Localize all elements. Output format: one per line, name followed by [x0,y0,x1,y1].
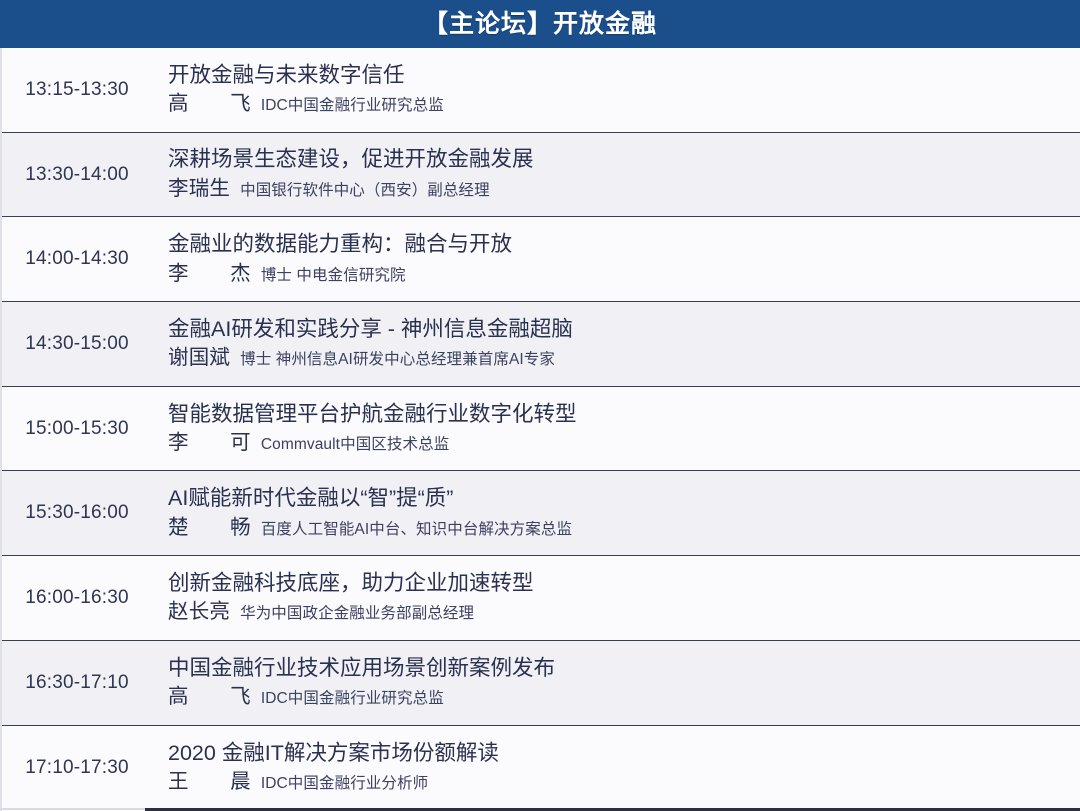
agenda-row[interactable]: 16:30-17:10 中国金融行业技术应用场景创新案例发布 高 飞 IDC中国… [0,641,1080,726]
speaker-line: 王 晨 IDC中国金融行业分析师 [168,769,1068,796]
session-time: 13:30-14:00 [25,164,129,186]
session-time: 16:30-17:10 [25,672,129,694]
speaker-name: 高 飞 [168,91,251,118]
agenda-row-time-cell: 14:00-14:30 [0,217,150,301]
speaker-line: 谢国斌 博士 神州信息AI研发中心总经理兼首席AI专家 [168,345,1068,372]
agenda-row-time-cell: 14:30-15:00 [0,302,150,386]
agenda-row-time-cell: 13:15-13:30 [0,48,150,132]
agenda-row-content-cell: 中国金融行业技术应用场景创新案例发布 高 飞 IDC中国金融行业研究总监 [150,641,1080,725]
agenda-row-time-cell: 15:00-15:30 [0,387,150,471]
speaker-affiliation: Commvault中国区技术总监 [261,435,449,455]
session-title: 中国金融行业技术应用场景创新案例发布 [168,655,1068,683]
agenda-row-content-cell: 开放金融与未来数字信任 高 飞 IDC中国金融行业研究总监 [150,48,1080,132]
session-title: 深耕场景生态建设，促进开放金融发展 [168,146,1068,174]
session-title: 金融AI研发和实践分享 - 神州信息金融超脑 [168,316,1068,344]
speaker-name: 谢国斌 [168,345,230,372]
agenda-row-time-cell: 16:00-16:30 [0,556,150,640]
agenda-row-content-cell: 金融AI研发和实践分享 - 神州信息金融超脑 谢国斌 博士 神州信息AI研发中心… [150,302,1080,386]
session-time: 14:30-15:00 [25,333,129,355]
agenda-row[interactable]: 16:00-16:30 创新金融科技底座，助力企业加速转型 赵长亮 华为中国政企… [0,556,1080,641]
agenda-row-time-cell: 15:30-16:00 [0,471,150,555]
speaker-affiliation: IDC中国金融行业研究总监 [261,96,444,116]
speaker-line: 李瑞生 中国银行软件中心（西安）副总经理 [168,176,1068,203]
session-title: 智能数据管理平台护航金融行业数字化转型 [168,401,1068,429]
speaker-affiliation: IDC中国金融行业研究总监 [261,689,444,709]
session-title: 开放金融与未来数字信任 [168,62,1068,90]
speaker-affiliation: IDC中国金融行业分析师 [261,774,428,794]
speaker-line: 高 飞 IDC中国金融行业研究总监 [168,684,1068,711]
agenda-row-time-cell: 13:30-14:00 [0,133,150,217]
speaker-name: 李瑞生 [168,176,230,203]
session-time: 17:10-17:30 [25,757,129,779]
speaker-name: 楚 畅 [168,515,251,542]
agenda-row[interactable]: 13:30-14:00 深耕场景生态建设，促进开放金融发展 李瑞生 中国银行软件… [0,133,1080,218]
speaker-line: 高 飞 IDC中国金融行业研究总监 [168,91,1068,118]
session-time: 15:00-15:30 [25,418,129,440]
speaker-line: 赵长亮 华为中国政企金融业务部副总经理 [168,599,1068,626]
speaker-affiliation: 博士 神州信息AI研发中心总经理兼首席AI专家 [240,350,555,370]
page-title: 【主论坛】开放金融 [423,12,657,37]
session-title: 创新金融科技底座，助力企业加速转型 [168,570,1068,598]
agenda-page: 【主论坛】开放金融 13:15-13:30 开放金融与未来数字信任 高 飞 ID… [0,0,1080,811]
speaker-affiliation: 中国银行软件中心（西安）副总经理 [240,181,490,201]
agenda-table: 13:15-13:30 开放金融与未来数字信任 高 飞 IDC中国金融行业研究总… [0,48,1080,810]
speaker-name: 王 晨 [168,769,251,796]
agenda-row-content-cell: AI赋能新时代金融以“智”提“质” 楚 畅 百度人工智能AI中台、知识中台解决方… [150,471,1080,555]
session-time: 16:00-16:30 [25,587,129,609]
agenda-row[interactable]: 15:00-15:30 智能数据管理平台护航金融行业数字化转型 李 可 Comm… [0,387,1080,472]
speaker-affiliation: 百度人工智能AI中台、知识中台解决方案总监 [261,520,572,540]
agenda-row[interactable]: 17:10-17:30 2020 金融IT解决方案市场份额解读 王 晨 IDC中… [0,726,1080,811]
session-title: 金融业的数据能力重构：融合与开放 [168,231,1068,259]
speaker-name: 高 飞 [168,684,251,711]
speaker-name: 李 杰 [168,261,251,288]
bottom-rule-light-segment [0,808,145,810]
speaker-line: 李 杰 博士 中电金信研究院 [168,261,1068,288]
session-time: 15:30-16:00 [25,502,129,524]
agenda-row-content-cell: 智能数据管理平台护航金融行业数字化转型 李 可 Commvault中国区技术总监 [150,387,1080,471]
agenda-row[interactable]: 15:30-16:00 AI赋能新时代金融以“智”提“质” 楚 畅 百度人工智能… [0,471,1080,556]
agenda-row[interactable]: 14:00-14:30 金融业的数据能力重构：融合与开放 李 杰 博士 中电金信… [0,217,1080,302]
agenda-row[interactable]: 13:15-13:30 开放金融与未来数字信任 高 飞 IDC中国金融行业研究总… [0,48,1080,133]
agenda-row-content-cell: 深耕场景生态建设，促进开放金融发展 李瑞生 中国银行软件中心（西安）副总经理 [150,133,1080,217]
speaker-name: 赵长亮 [168,599,230,626]
agenda-row-time-cell: 16:30-17:10 [0,641,150,725]
speaker-name: 李 可 [168,430,251,457]
speaker-line: 楚 畅 百度人工智能AI中台、知识中台解决方案总监 [168,515,1068,542]
speaker-line: 李 可 Commvault中国区技术总监 [168,430,1068,457]
agenda-row-content-cell: 2020 金融IT解决方案市场份额解读 王 晨 IDC中国金融行业分析师 [150,726,1080,811]
session-title: 2020 金融IT解决方案市场份额解读 [168,740,1068,768]
agenda-row-content-cell: 金融业的数据能力重构：融合与开放 李 杰 博士 中电金信研究院 [150,217,1080,301]
speaker-affiliation: 华为中国政企金融业务部副总经理 [240,604,474,624]
agenda-row[interactable]: 14:30-15:00 金融AI研发和实践分享 - 神州信息金融超脑 谢国斌 博… [0,302,1080,387]
agenda-row-content-cell: 创新金融科技底座，助力企业加速转型 赵长亮 华为中国政企金融业务部副总经理 [150,556,1080,640]
session-title: AI赋能新时代金融以“智”提“质” [168,485,1068,513]
forum-header-banner: 【主论坛】开放金融 [0,0,1080,48]
session-time: 14:00-14:30 [25,248,129,270]
agenda-row-time-cell: 17:10-17:30 [0,726,150,811]
speaker-affiliation: 博士 中电金信研究院 [261,266,406,286]
session-time: 13:15-13:30 [25,79,129,101]
